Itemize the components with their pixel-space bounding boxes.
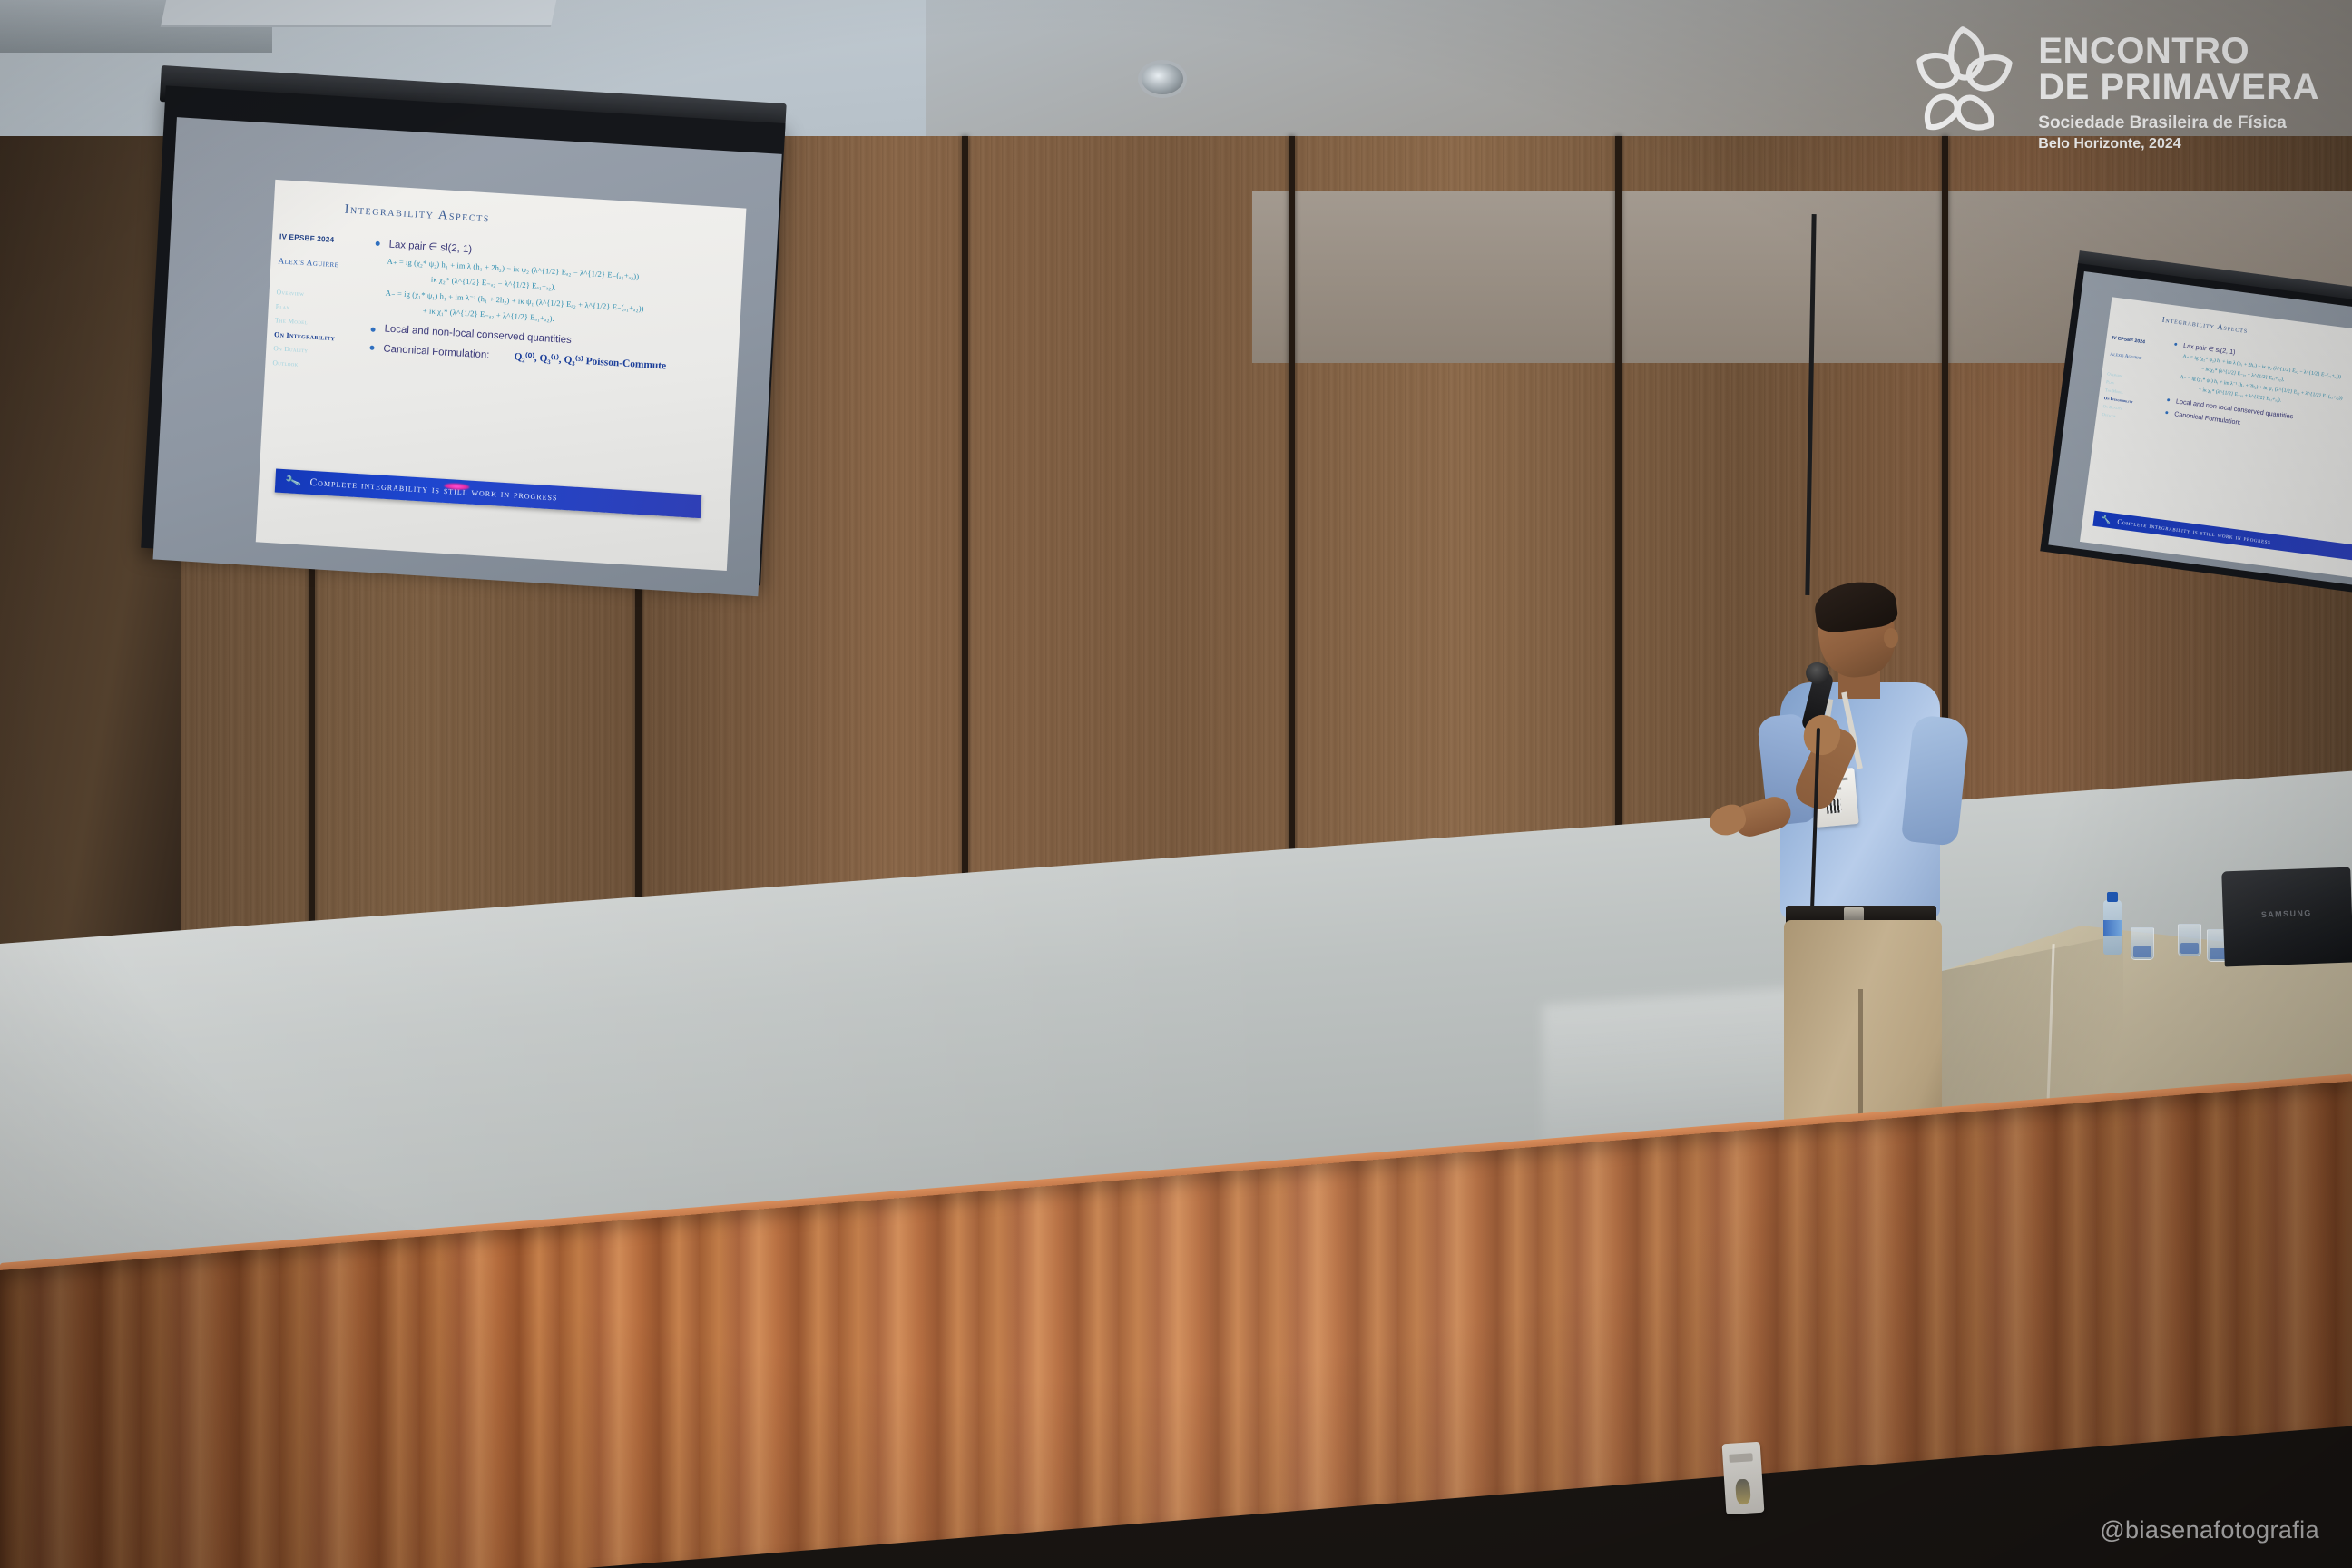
slide-sidebar: IV EPSBF 2024 Alexis Aguirre Overview Pl…: [272, 232, 363, 377]
screen-black-frame: Integrability Aspects IV EPSBF 2024 Alex…: [141, 85, 785, 585]
toc-item-plan: Plan: [276, 302, 359, 316]
canonical-charges: Q₂⁽⁰⁾, Q₃⁽¹⁾, Q₃⁽³⁾ Poisson-Commute: [514, 352, 666, 372]
slide2-sidebar: IV EPSBF 2024 Alexis Aguirre Overview Pl…: [2102, 336, 2169, 427]
screen2-black-frame: Integrability Aspects IV EPSBF 2024 Alex…: [2040, 263, 2352, 598]
ceiling-spot-light-icon: [1142, 64, 1183, 94]
logo-line-2: DE PRIMAVERA: [2038, 69, 2319, 105]
projection-screen-secondary: Integrability Aspects IV EPSBF 2024 Alex…: [2039, 263, 2352, 610]
slide2-sidebar-author: Alexis Aguirre: [2110, 351, 2166, 364]
projected-slide: Integrability Aspects IV EPSBF 2024 Alex…: [256, 180, 747, 571]
slide-banner-text: Complete integrability is still work in …: [309, 477, 558, 504]
laptop[interactable]: SAMSUNG: [2221, 867, 2352, 967]
plastic-cup: [2131, 927, 2154, 960]
slide-status-banner: 🔧 Complete integrability is still work i…: [275, 469, 702, 519]
presenter-right-sleeve: [1901, 714, 1970, 847]
ceiling-panel-seam: [161, 0, 556, 27]
slide-content: Lax pair ∈ sl(2, 1) A₊ = ig (χ₂* ψ₂) h₁ …: [367, 237, 730, 381]
logo-location-year: Belo Horizonte, 2024: [2038, 136, 2319, 152]
slide2-status-banner: 🔧 Complete integrability is still work i…: [2092, 511, 2352, 564]
screen2-surface: Integrability Aspects IV EPSBF 2024 Alex…: [2048, 271, 2352, 591]
plastic-cup: [2178, 924, 2201, 956]
slide-sidebar-author: Alexis Aguirre: [278, 257, 361, 271]
slide2-title: Integrability Aspects: [2161, 315, 2249, 335]
conference-photo-scene: Integrability Aspects IV EPSBF 2024 Alex…: [0, 0, 2352, 1568]
wall-outlet-icon: [1722, 1442, 1765, 1514]
slide2-wrench-icon: 🔧: [2101, 514, 2112, 525]
slide2-content: Lax pair ∈ sl(2, 1) A₊ = ig (χ₂* ψ₂) h₁ …: [2163, 340, 2352, 453]
logo-line-1: ENCONTRO: [2038, 33, 2319, 69]
toc-item-overview: Overview: [276, 288, 359, 301]
presenter-ear: [1884, 628, 1898, 648]
toc-item-the-model: The Model: [275, 316, 358, 329]
slide2-banner-text: Complete integrability is still work in …: [2117, 517, 2271, 545]
toc-item-on-integrability: On Integrability: [274, 330, 358, 344]
bottle-label: [2103, 920, 2122, 936]
toc-item-on-duality: On Duality: [273, 344, 357, 358]
bottle-cap: [2107, 892, 2118, 902]
slide-sidebar-toc: Overview Plan The Model On Integrability…: [272, 288, 360, 371]
logo-organization: Sociedade Brasileira de Física: [2038, 113, 2319, 133]
photographer-watermark: @biasenafotografia: [2100, 1516, 2319, 1544]
flower-outline-icon: [1907, 22, 2022, 138]
event-logo-text: ENCONTRO DE PRIMAVERA Sociedade Brasilei…: [2038, 22, 2319, 152]
canonical-label: Canonical Formulation:: [383, 344, 490, 361]
projection-screen-main: Integrability Aspects IV EPSBF 2024 Alex…: [137, 65, 787, 561]
screen-surface: Integrability Aspects IV EPSBF 2024 Alex…: [153, 117, 782, 596]
wrench-icon: 🔧: [284, 473, 302, 491]
projected-slide-secondary: Integrability Aspects IV EPSBF 2024 Alex…: [2080, 297, 2352, 583]
slide2-toc: Overview Plan The Model On Integrability…: [2102, 371, 2163, 424]
slide-sidebar-event: IV EPSBF 2024: [279, 232, 363, 246]
slide-title: Integrability Aspects: [344, 202, 490, 227]
event-logo: ENCONTRO DE PRIMAVERA Sociedade Brasilei…: [1907, 22, 2319, 152]
slide2-sidebar-event: IV EPSBF 2024: [2112, 336, 2168, 348]
toc-item-outlook: Outlook: [272, 358, 356, 372]
laptop-brand-label: SAMSUNG: [2261, 908, 2312, 919]
water-bottle: [2103, 900, 2122, 955]
